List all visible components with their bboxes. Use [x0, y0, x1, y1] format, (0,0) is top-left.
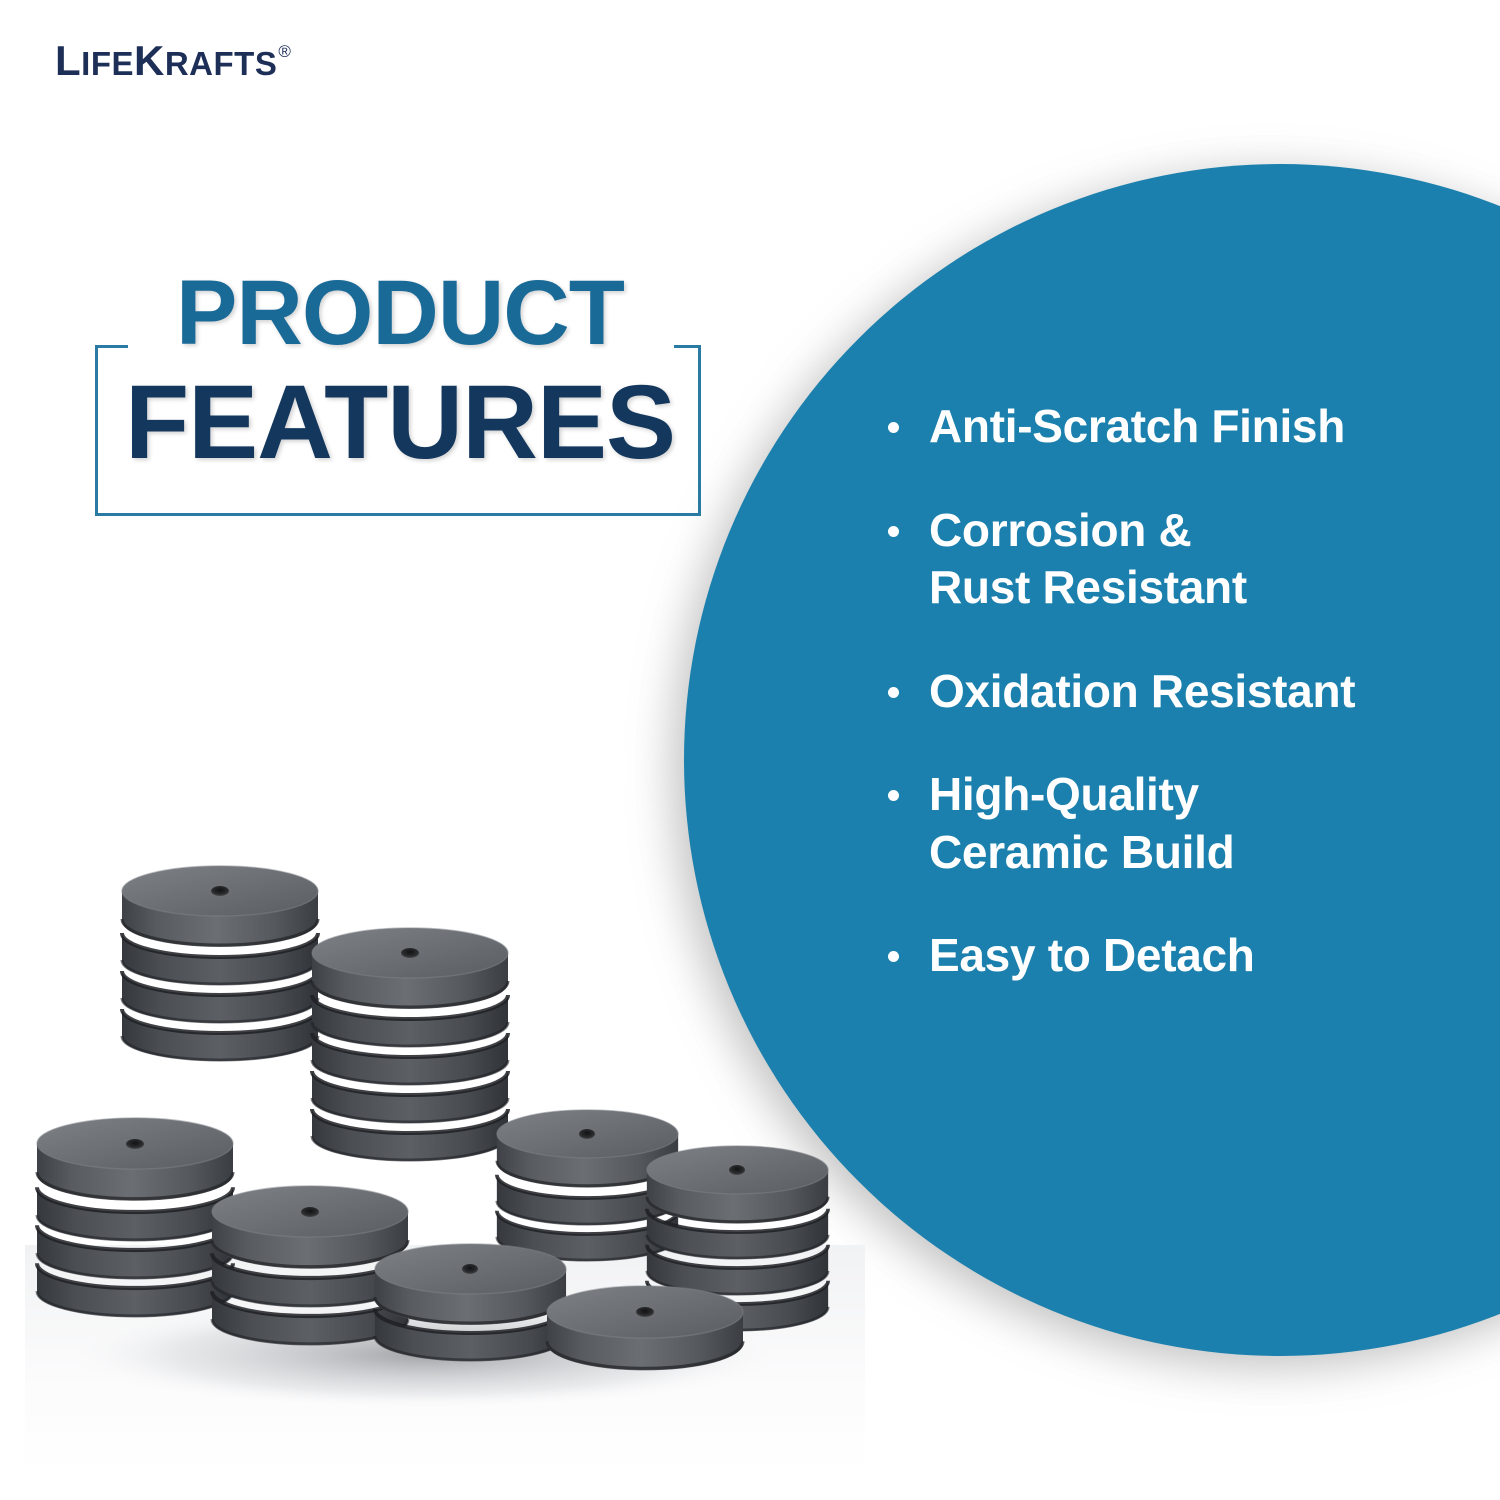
- magnet-center-hole: [211, 886, 229, 896]
- magnet-center-hole: [301, 1207, 319, 1217]
- feature-label: Anti-Scratch Finish: [929, 398, 1345, 456]
- logo-text-ife: IFE: [81, 45, 134, 82]
- logo-letter-k: K: [134, 37, 165, 84]
- list-item: High-Quality Ceramic Build: [888, 766, 1488, 881]
- feature-label: Corrosion & Rust Resistant: [929, 502, 1247, 617]
- magnet-stack: [547, 1286, 743, 1370]
- feature-label: High-Quality Ceramic Build: [929, 766, 1234, 881]
- list-item: Anti-Scratch Finish: [888, 398, 1488, 456]
- magnet-center-hole: [579, 1129, 595, 1139]
- magnet-stack: [375, 1244, 566, 1361]
- magnet-stack: [312, 928, 508, 1161]
- magnet-center-hole: [636, 1307, 654, 1317]
- magnet-center-hole: [126, 1139, 144, 1149]
- brand-logo: LIFEKRAFTS®: [55, 40, 290, 82]
- bullet-dot-icon: [888, 422, 899, 433]
- magnet-stack: [122, 866, 318, 1061]
- list-item: Easy to Detach: [888, 927, 1488, 985]
- feature-label: Easy to Detach: [929, 927, 1255, 985]
- magnet-stack: [37, 1118, 233, 1317]
- logo-text-rafts: RAFTS: [165, 45, 278, 82]
- magnet-center-hole: [729, 1165, 745, 1175]
- logo-letter-l: L: [55, 37, 81, 84]
- feature-label: Oxidation Resistant: [929, 663, 1355, 721]
- bullet-dot-icon: [888, 951, 899, 962]
- page-title-line1: PRODUCT: [95, 270, 705, 357]
- infographic-canvas: LIFEKRAFTS® PRODUCT FEATURES Anti-Scratc…: [0, 0, 1500, 1500]
- bullet-dot-icon: [888, 526, 899, 537]
- product-image: [25, 855, 865, 1475]
- bullet-dot-icon: [888, 790, 899, 801]
- registered-trademark-icon: ®: [278, 42, 291, 61]
- magnet-stack-illustration: [25, 855, 865, 1475]
- page-title: PRODUCT FEATURES: [95, 270, 705, 473]
- magnet-center-hole: [401, 948, 419, 958]
- list-item: Corrosion & Rust Resistant: [888, 502, 1488, 617]
- magnet-center-hole: [462, 1264, 478, 1274]
- bullet-dot-icon: [888, 687, 899, 698]
- list-item: Oxidation Resistant: [888, 663, 1488, 721]
- feature-list: Anti-Scratch Finish Corrosion & Rust Res…: [888, 398, 1488, 985]
- page-title-line2: FEATURES: [95, 373, 705, 473]
